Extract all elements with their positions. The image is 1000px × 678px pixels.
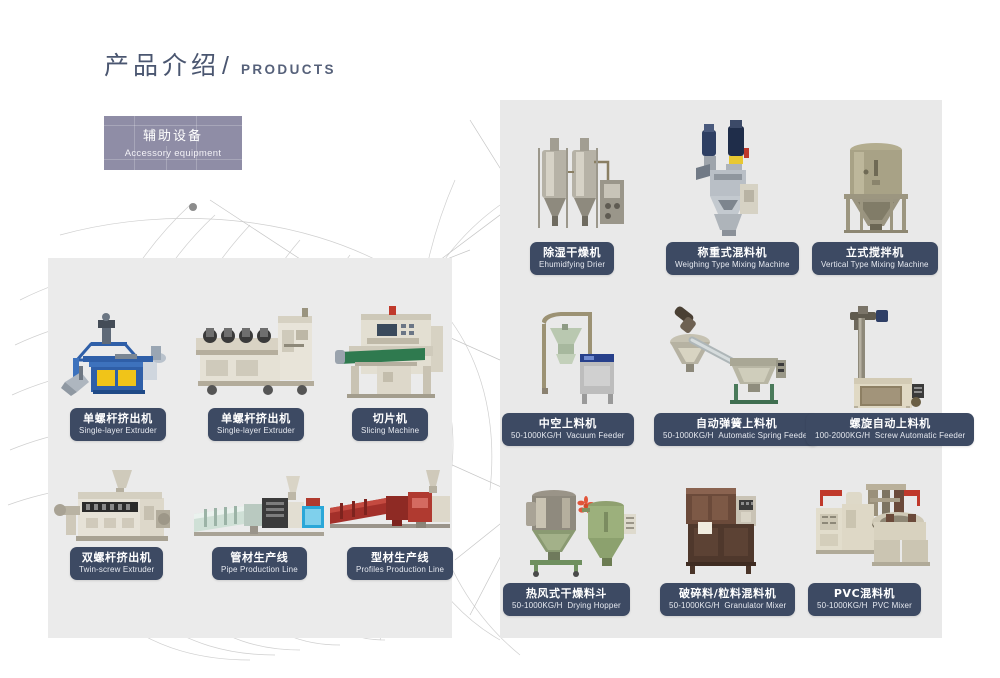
badge-en: Profiles Production Line xyxy=(356,564,444,575)
weighing-mixer-image xyxy=(688,118,768,240)
accessory-tag-en: Accessory equipment xyxy=(104,148,242,159)
badge-single-layer-extruder-2[interactable]: 单螺杆挤出机 Single-layer Extruder xyxy=(208,408,304,441)
badge-automatic-spring-feeder[interactable]: 自动弹簧上料机 50-1000KG/H Automatic Spring Fee… xyxy=(654,413,819,446)
badge-cn: PVC混料机 xyxy=(817,587,912,600)
page-title-cn: 产品介绍 xyxy=(104,46,220,82)
vertical-mixer-image xyxy=(830,128,922,240)
page-title-en: PRODUCTS xyxy=(241,62,336,77)
profiles-production-line-image xyxy=(326,462,454,557)
badge-cn: 单螺杆挤出机 xyxy=(79,412,157,425)
single-layer-extruder-2-image xyxy=(190,300,325,410)
badge-cn: 中空上料机 xyxy=(511,417,625,430)
badge-profiles-production-line[interactable]: 型材生产线 Profiles Production Line xyxy=(347,547,453,580)
badge-cn: 热风式干燥料斗 xyxy=(512,587,621,600)
badge-weighing-type-mixing-machine[interactable]: 称重式混料机 Weighing Type Mixing Machine xyxy=(666,242,799,275)
badge-cn: 除湿干燥机 xyxy=(539,246,605,259)
product-cell-vacuum-feeder[interactable] xyxy=(522,300,632,408)
single-layer-extruder-image xyxy=(55,300,185,410)
drying-hopper-image xyxy=(518,478,638,578)
product-cell-screw-automatic-feeder[interactable] xyxy=(828,296,933,408)
product-cell-drying-hopper[interactable] xyxy=(518,478,638,578)
badge-cn: 单螺杆挤出机 xyxy=(217,412,295,425)
badge-cn: 立式搅拌机 xyxy=(821,246,929,259)
badge-en: 50-1000KG/H Automatic Spring Feeder xyxy=(663,430,810,441)
badge-slicing-machine[interactable]: 切片机 Slicing Machine xyxy=(352,408,428,441)
badge-en: Pipe Production Line xyxy=(221,564,298,575)
badge-en: Ehumidfying Drier xyxy=(539,259,605,270)
product-cell-pvc-mixer[interactable] xyxy=(812,478,934,578)
badge-cn: 管材生产线 xyxy=(221,551,298,564)
decor-node xyxy=(189,203,197,211)
accessory-equipment-tag: 辅助设备 Accessory equipment xyxy=(104,116,242,170)
badge-pipe-production-line[interactable]: 管材生产线 Pipe Production Line xyxy=(212,547,307,580)
badge-cn: 切片机 xyxy=(361,412,419,425)
badge-cn: 破碎料/粒料混料机 xyxy=(669,587,786,600)
badge-pvc-mixer[interactable]: PVC混料机 50-1000KG/H PVC Mixer xyxy=(808,583,921,616)
badge-cn: 双螺杆挤出机 xyxy=(79,551,154,564)
granulator-mixer-image xyxy=(680,478,770,578)
product-cell-automatic-spring-feeder[interactable] xyxy=(668,300,788,408)
ehumidfying-drier-image xyxy=(528,128,636,240)
badge-cn: 称重式混料机 xyxy=(675,246,790,259)
product-cell-weighing-type-mixing-machine[interactable] xyxy=(688,118,768,240)
badge-en: 50-1000KG/H Granulator Mixer xyxy=(669,600,786,611)
product-cell-profiles-production-line[interactable] xyxy=(326,462,454,557)
product-cell-single-layer-extruder-2[interactable] xyxy=(190,300,325,410)
product-cell-twin-screw-extruder[interactable] xyxy=(52,462,187,557)
badge-en: Slicing Machine xyxy=(361,425,419,436)
badge-cn: 螺旋自动上料机 xyxy=(815,417,965,430)
badge-en: 50-1000KG/H Drying Hopper xyxy=(512,600,621,611)
accessory-tag-cn: 辅助设备 xyxy=(104,125,242,144)
badge-granulator-mixer[interactable]: 破碎料/粒料混料机 50-1000KG/H Granulator Mixer xyxy=(660,583,795,616)
badge-en: Single-layer Extruder xyxy=(217,425,295,436)
pvc-mixer-image xyxy=(812,478,934,578)
product-cell-vertical-type-mixing-machine[interactable] xyxy=(830,128,922,240)
badge-screw-automatic-feeder[interactable]: 螺旋自动上料机 100-2000KG/H Screw Automatic Fee… xyxy=(806,413,974,446)
product-cell-granulator-mixer[interactable] xyxy=(680,478,770,578)
badge-single-layer-extruder-1[interactable]: 单螺杆挤出机 Single-layer Extruder xyxy=(70,408,166,441)
badge-vacuum-feeder[interactable]: 中空上料机 50-1000KG/H Vacuum Feeder xyxy=(502,413,634,446)
badge-en: Vertical Type Mixing Machine xyxy=(821,259,929,270)
badge-en: 50-1000KG/H Vacuum Feeder xyxy=(511,430,625,441)
screw-feeder-image xyxy=(828,296,933,408)
badge-en: 50-1000KG/H PVC Mixer xyxy=(817,600,912,611)
product-cell-pipe-production-line[interactable] xyxy=(188,462,328,557)
spring-feeder-image xyxy=(668,300,788,408)
product-cell-slicing-machine[interactable] xyxy=(325,300,450,410)
page-title: 产品介绍 / PRODUCTS xyxy=(104,46,336,82)
twin-screw-extruder-image xyxy=(52,462,187,557)
badge-vertical-type-mixing-machine[interactable]: 立式搅拌机 Vertical Type Mixing Machine xyxy=(812,242,938,275)
badge-ehumidfying-drier[interactable]: 除湿干燥机 Ehumidfying Drier xyxy=(530,242,614,275)
product-catalog-page: 产品介绍 / PRODUCTS 辅助设备 Accessory equipment xyxy=(0,0,1000,678)
page-title-slash: / xyxy=(222,52,229,81)
vacuum-feeder-image xyxy=(522,300,632,408)
badge-en: Single-layer Extruder xyxy=(79,425,157,436)
pipe-production-line-image xyxy=(188,462,328,557)
badge-cn: 自动弹簧上料机 xyxy=(663,417,810,430)
product-cell-single-layer-extruder-1[interactable] xyxy=(55,300,185,410)
badge-en: Weighing Type Mixing Machine xyxy=(675,259,790,270)
product-cell-ehumidfying-drier[interactable] xyxy=(528,128,636,240)
badge-en: Twin-screw Extruder xyxy=(79,564,154,575)
badge-twin-screw-extruder[interactable]: 双螺杆挤出机 Twin-screw Extruder xyxy=(70,547,163,580)
badge-cn: 型材生产线 xyxy=(356,551,444,564)
slicing-machine-image xyxy=(325,300,450,410)
badge-en: 100-2000KG/H Screw Automatic Feeder xyxy=(815,430,965,441)
badge-drying-hopper[interactable]: 热风式干燥料斗 50-1000KG/H Drying Hopper xyxy=(503,583,630,616)
